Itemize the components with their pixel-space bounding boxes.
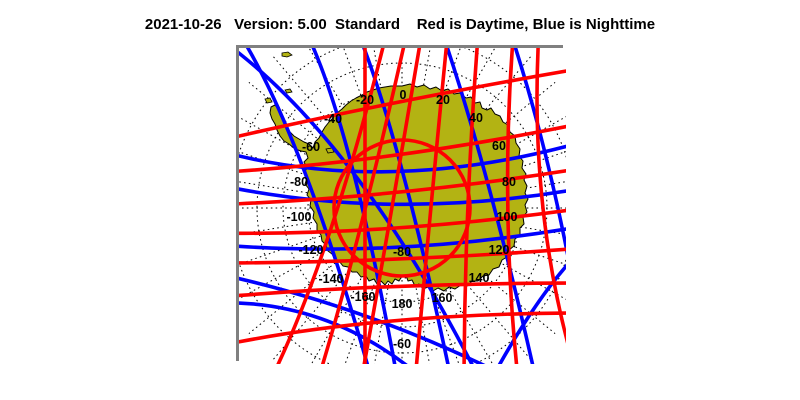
meridian-label-minus20: -20 (356, 94, 374, 107)
figure-title: 2021-10-26 Version: 5.00 Standard Red is… (0, 16, 800, 33)
meridian-label-40: 40 (469, 112, 483, 125)
meridian-label-minus100: -100 (286, 211, 311, 224)
meridian-label-minus80: -80 (290, 176, 308, 189)
meridian-label-60: 60 (492, 140, 506, 153)
meridian-label-minus40: -40 (324, 113, 342, 126)
meridian-label-80: 80 (502, 176, 516, 189)
meridian-label-minus140: -140 (318, 273, 343, 286)
meridian-label-180: 180 (392, 298, 413, 311)
meridian-label-120: 120 (489, 244, 510, 257)
parallel-label-minus60: -60 (393, 338, 411, 351)
meridian-label-100: 100 (497, 211, 518, 224)
meridian-label-20: 20 (436, 94, 450, 107)
parallel-label-minus80: -80 (393, 246, 411, 259)
meridian-label-160: 160 (432, 292, 453, 305)
meridian-label-140: 140 (469, 272, 490, 285)
meridian-label-minus160: -160 (350, 291, 375, 304)
figure-canvas: 2021-10-26 Version: 5.00 Standard Red is… (0, 0, 800, 400)
map-plot-area[interactable]: 0 20 40 60 80 100 120 140 160 180 -160 -… (236, 45, 563, 361)
meridian-label-0: 0 (400, 89, 407, 102)
meridian-label-minus60: -60 (302, 141, 320, 154)
meridian-label-minus120: -120 (298, 244, 323, 257)
